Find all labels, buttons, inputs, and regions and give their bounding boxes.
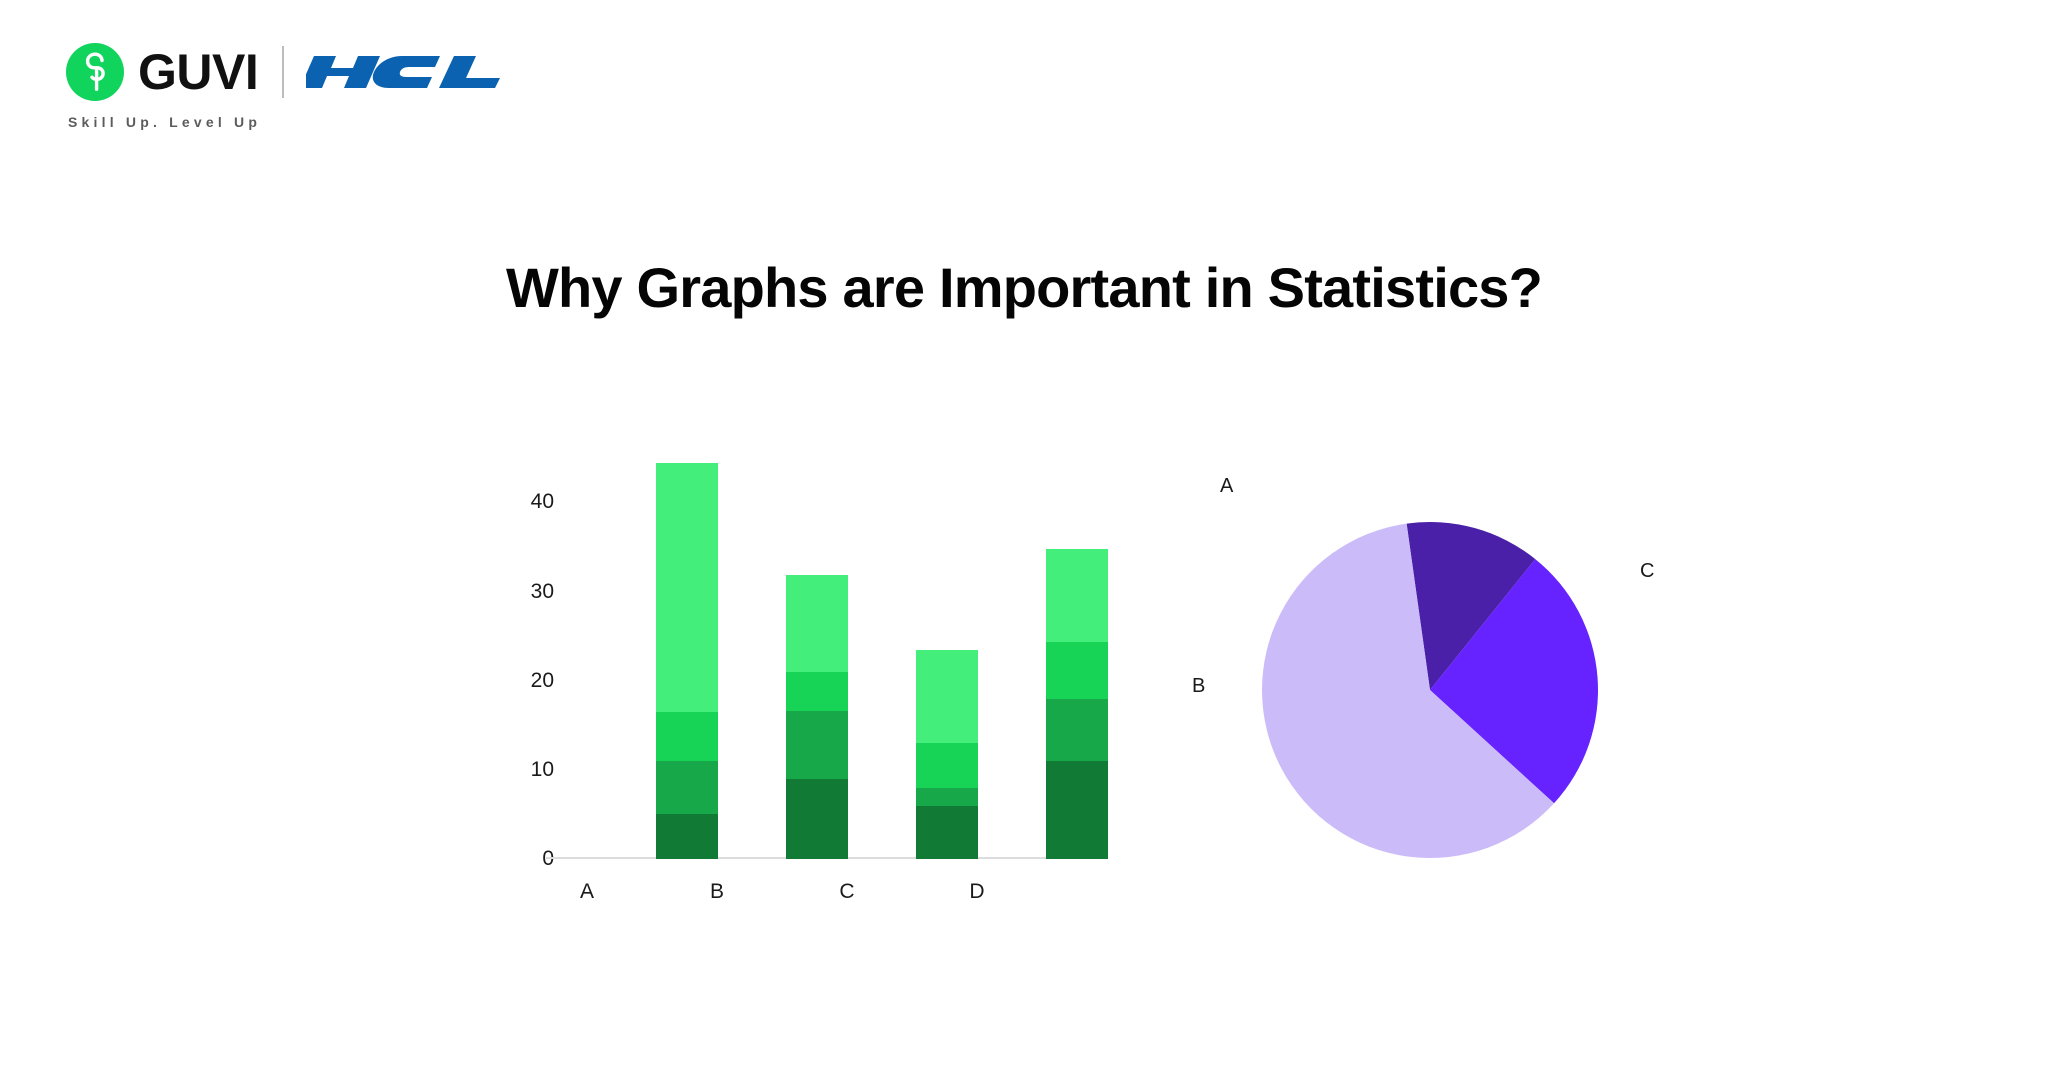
x-axis-labels: ABCD — [460, 880, 1040, 910]
bar-segment — [656, 814, 718, 859]
x-tick-label: D — [946, 880, 1008, 904]
bar-segment — [1046, 549, 1108, 642]
pie-label-c: C — [1640, 560, 1654, 583]
bar-plot-area: 010203040 — [460, 440, 1040, 859]
bar-a — [656, 463, 718, 859]
bar-segment — [656, 761, 718, 814]
bar-segment — [1046, 699, 1108, 761]
bar-segment — [916, 788, 978, 806]
bar-segment — [656, 463, 718, 712]
bar-series-group — [560, 440, 1140, 859]
pie-label-b: B — [1192, 675, 1205, 698]
bar-segment — [656, 712, 718, 761]
bar-segment — [916, 650, 978, 744]
stacked-bar-chart: 010203040 ABCD — [360, 440, 1060, 920]
brand-header: GUVI Skill Up. Level Up — [66, 42, 524, 130]
bar-segment — [786, 575, 848, 672]
pie-slices-group — [1260, 520, 1600, 860]
bar-segment — [1046, 642, 1108, 699]
x-tick-label: A — [556, 880, 618, 904]
bar-segment — [916, 806, 978, 859]
x-tick-label: B — [686, 880, 748, 904]
y-tick-label: 20 — [476, 669, 554, 693]
guvi-wordmark: GUVI — [138, 47, 258, 97]
bar-segment — [786, 672, 848, 711]
brand-logo-row: GUVI — [66, 42, 524, 102]
pie-chart: A B C — [1210, 490, 1690, 910]
y-tick-label: 30 — [476, 580, 554, 604]
hcl-logo-icon — [306, 49, 524, 95]
brand-tagline: Skill Up. Level Up — [68, 114, 524, 130]
slide: GUVI Skill Up. Level Up Why Graphs are I… — [0, 0, 2048, 1075]
y-tick-label: 40 — [476, 490, 554, 514]
brand-divider — [282, 46, 284, 98]
bar-segment — [786, 711, 848, 779]
bar-segment — [916, 743, 978, 788]
y-tick-label: 0 — [476, 847, 554, 871]
y-axis-ticks: 010203040 — [460, 440, 554, 859]
y-tick-label: 10 — [476, 758, 554, 782]
guvi-circle-mark-icon — [66, 43, 124, 101]
bar-segment — [1046, 761, 1108, 859]
bar-d — [1046, 549, 1108, 859]
bar-c — [916, 650, 978, 859]
pie-label-a: A — [1220, 475, 1233, 498]
bar-segment — [786, 779, 848, 859]
bar-b — [786, 575, 848, 859]
page-title: Why Graphs are Important in Statistics? — [0, 255, 2048, 320]
x-tick-label: C — [816, 880, 878, 904]
